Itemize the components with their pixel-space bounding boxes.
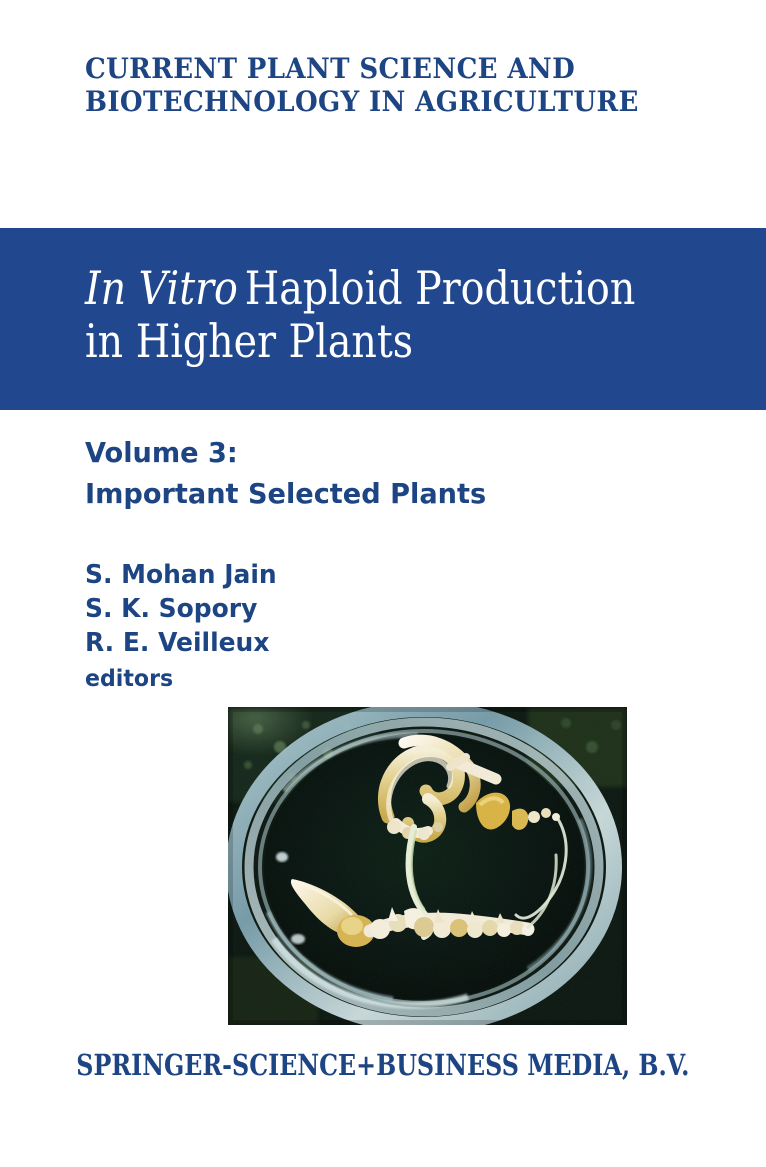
editor-name-3: R. E. Veilleux xyxy=(85,626,565,660)
editors-role-label: editors xyxy=(85,663,565,696)
editor-name-2: S. K. Sopory xyxy=(85,592,565,626)
publisher-line: SPRINGER-SCIENCE+BUSINESS MEDIA, B.V. xyxy=(0,1048,766,1082)
tissue-culture-jar-illustration xyxy=(228,707,627,1025)
volume-block: Volume 3: Important Selected Plants xyxy=(85,432,645,514)
book-title-line-1: In VitroHaploid Production xyxy=(85,263,635,313)
book-title-line-1-rest: Haploid Production xyxy=(245,261,636,315)
series-title-line-1: CURRENT PLANT SCIENCE AND xyxy=(85,52,662,85)
series-title-line-2: BIOTECHNOLOGY IN AGRICULTURE xyxy=(85,85,662,118)
volume-subtitle: Important Selected Plants xyxy=(85,473,628,514)
volume-number: Volume 3: xyxy=(85,432,628,473)
title-band: In VitroHaploid Production in Higher Pla… xyxy=(0,228,766,410)
book-title-line-2: in Higher Plants xyxy=(85,316,413,366)
publisher-name: SPRINGER-SCIENCE+BUSINESS MEDIA, B.V. xyxy=(76,1048,689,1082)
editor-name-1: S. Mohan Jain xyxy=(85,558,565,592)
book-cover: CURRENT PLANT SCIENCE AND BIOTECHNOLOGY … xyxy=(0,0,766,1167)
series-title: CURRENT PLANT SCIENCE AND BIOTECHNOLOGY … xyxy=(85,52,705,118)
book-title-italic-part: In Vitro xyxy=(85,261,245,315)
editors-block: S. Mohan Jain S. K. Sopory R. E. Veilleu… xyxy=(85,558,585,696)
cover-photograph xyxy=(228,707,627,1025)
